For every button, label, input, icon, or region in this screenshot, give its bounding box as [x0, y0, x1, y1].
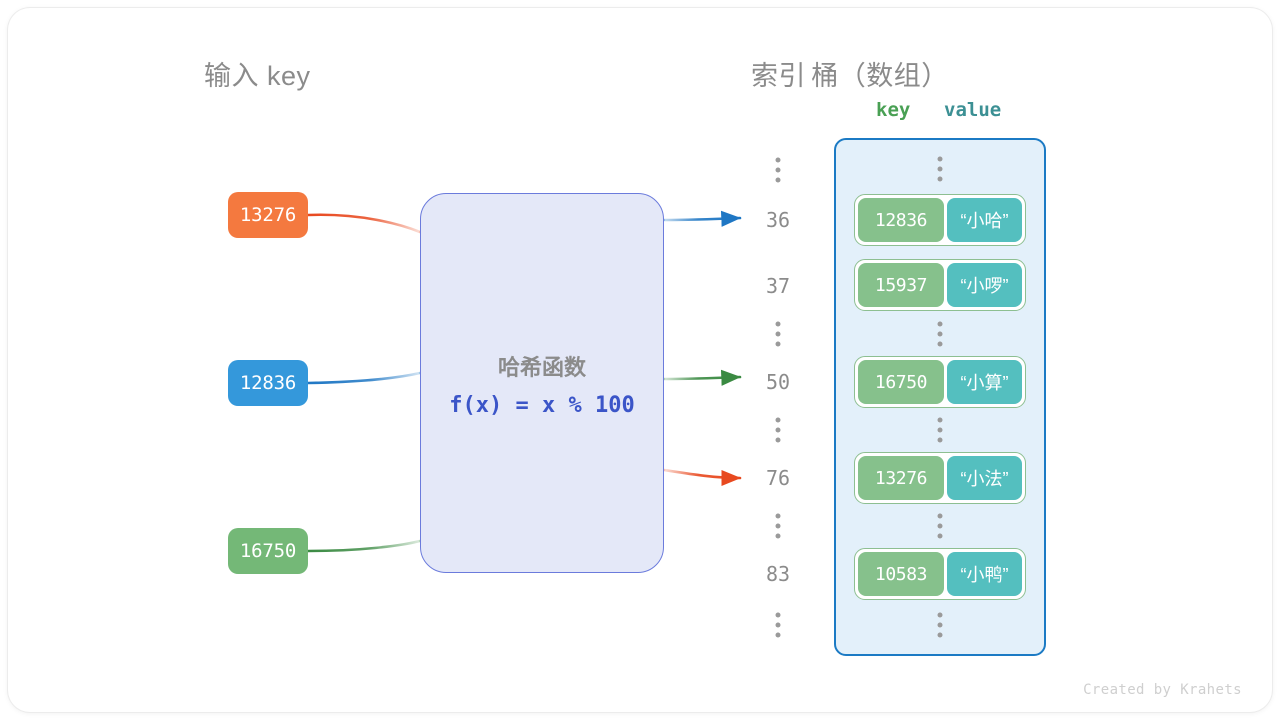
bucket-entry-37[interactable]: 15937 “小啰” [854, 259, 1026, 311]
bucket-entry-83[interactable]: 10583 “小鸭” [854, 548, 1026, 600]
bucket-ellipsis-2 [938, 418, 943, 443]
link-16750-in [308, 541, 420, 551]
column-title-index: 索引 [751, 54, 806, 93]
index-ellipsis-4 [776, 613, 781, 638]
hash-function-box [420, 193, 664, 573]
index-37: 37 [766, 274, 790, 298]
input-key-13276[interactable]: 13276 [228, 192, 308, 238]
bucket-entry-key: 16750 [858, 360, 944, 404]
bucket-entry-50[interactable]: 16750 “小算” [854, 356, 1026, 408]
bucket-entry-value: “小哈” [947, 198, 1022, 242]
index-ellipsis-1 [776, 322, 781, 347]
bucket-entry-key: 13276 [858, 456, 944, 500]
bucket-entry-value: “小鸭” [947, 552, 1022, 596]
index-36: 36 [766, 208, 790, 232]
link-16750-out [664, 377, 740, 379]
index-50: 50 [766, 370, 790, 394]
index-83: 83 [766, 562, 790, 586]
index-ellipsis-2 [776, 418, 781, 443]
bucket-ellipsis-4 [938, 613, 943, 638]
bucket-entry-36[interactable]: 12836 “小哈” [854, 194, 1026, 246]
bucket-value-header: value [944, 99, 1001, 121]
bucket-entry-key: 15937 [858, 263, 944, 307]
index-76: 76 [766, 466, 790, 490]
column-title-bucket: 桶（数组） [811, 54, 949, 93]
bucket-entry-value: “小算” [947, 360, 1022, 404]
bucket-entry-value: “小法” [947, 456, 1022, 500]
bucket-ellipsis-3 [938, 514, 943, 539]
column-title-input: 输入 key [204, 54, 311, 93]
bucket-entry-76[interactable]: 13276 “小法” [854, 452, 1026, 504]
input-key-12836[interactable]: 12836 [228, 360, 308, 406]
bucket-key-header: key [876, 99, 910, 121]
link-13276-in [308, 215, 420, 232]
bucket-entry-key: 10583 [858, 552, 944, 596]
input-key-16750[interactable]: 16750 [228, 528, 308, 574]
index-ellipsis-0 [776, 158, 781, 183]
link-12836-out [664, 218, 740, 220]
bucket-entry-value: “小啰” [947, 263, 1022, 307]
hash-function-formula: f(x) = x % 100 [449, 393, 634, 418]
diagram-stage: 输入 key 索引 桶（数组） key value 13276 12836 16… [0, 0, 1280, 720]
bucket-ellipsis-1 [938, 322, 943, 347]
bucket-entry-key: 12836 [858, 198, 944, 242]
link-12836-in [308, 373, 420, 383]
link-13276-out [664, 470, 740, 478]
hash-function-title: 哈希函数 [498, 350, 586, 382]
index-ellipsis-3 [776, 514, 781, 539]
bucket-ellipsis-0 [938, 157, 943, 182]
credit-label: Created by Krahets [1083, 682, 1242, 698]
